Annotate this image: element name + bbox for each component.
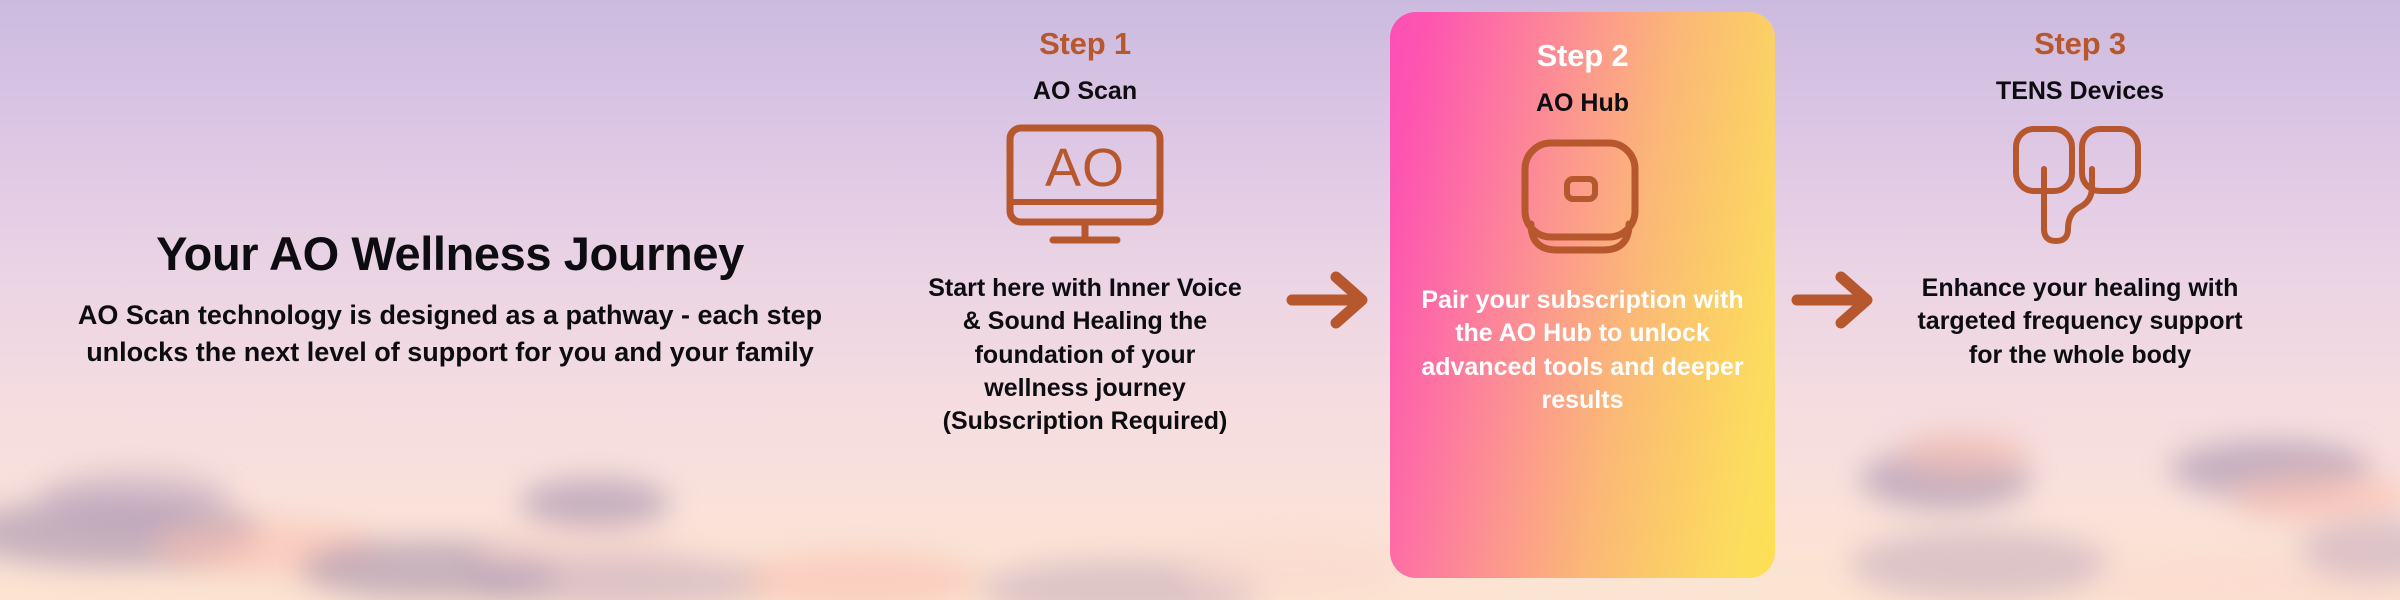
step-1-description: Start here with Inner Voice & Sound Heal… xyxy=(920,272,1250,438)
step-1-kicker: Step 1 xyxy=(1039,28,1131,59)
step-card-2[interactable]: Step 2 AO Hub Pair your subscription wit… xyxy=(1390,12,1775,578)
hub-device-icon xyxy=(1517,138,1649,258)
intro-block: Your AO Wellness Journey AO Scan technol… xyxy=(0,0,900,600)
step-2-kicker: Step 2 xyxy=(1537,40,1629,71)
step-3-name: TENS Devices xyxy=(1996,79,2164,104)
right-arrow-icon xyxy=(1286,267,1374,333)
steps-strip: Step 1 AO Scan AO Start here with Inner … xyxy=(900,0,2400,600)
step-3-kicker: Step 3 xyxy=(2034,28,2126,59)
tens-electrodes-icon xyxy=(2010,126,2150,246)
infographic-canvas: Your AO Wellness Journey AO Scan technol… xyxy=(0,0,2400,600)
arrow-step2-to-step3 xyxy=(1775,0,1895,600)
right-arrow-icon xyxy=(1791,267,1879,333)
step-2-name: AO Hub xyxy=(1536,91,1629,116)
page-subtitle: AO Scan technology is designed as a path… xyxy=(35,297,865,372)
page-title: Your AO Wellness Journey xyxy=(156,228,744,281)
monitor-ao-icon: AO xyxy=(1005,126,1165,246)
step-3-description: Enhance your healing with targeted frequ… xyxy=(1915,272,2245,372)
infographic-content: Your AO Wellness Journey AO Scan technol… xyxy=(0,0,2400,600)
step-2-description: Pair your subscription with the AO Hub t… xyxy=(1410,284,1755,417)
step-card-3[interactable]: Step 3 TENS Devices Enhance your healing… xyxy=(1895,0,2265,600)
step-card-1[interactable]: Step 1 AO Scan AO Start here with Inner … xyxy=(900,0,1270,600)
arrow-step1-to-step2 xyxy=(1270,0,1390,600)
svg-text:AO: AO xyxy=(1045,138,1125,198)
step-1-name: AO Scan xyxy=(1033,79,1137,104)
